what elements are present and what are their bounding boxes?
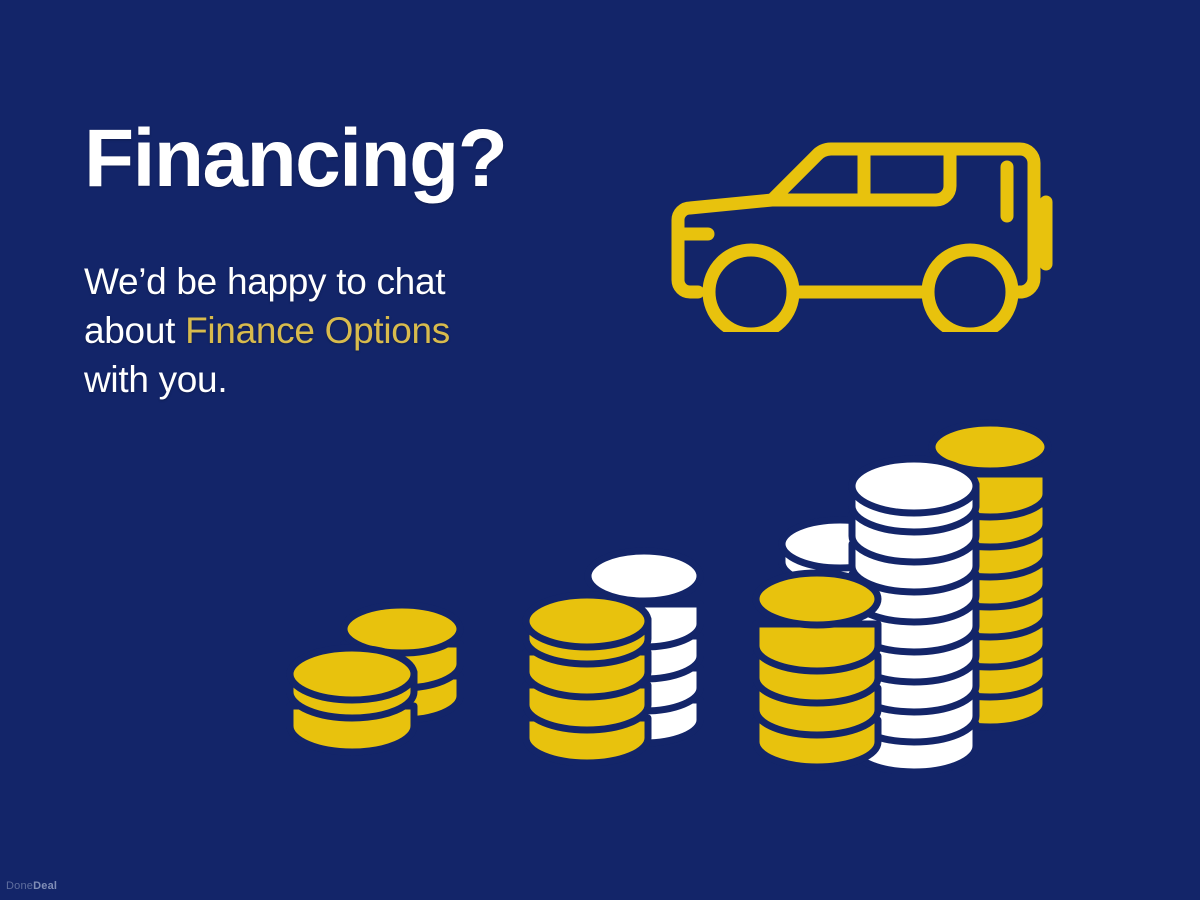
watermark-suffix: Deal: [33, 880, 57, 892]
subhead-line-1: We’d be happy to chat: [84, 261, 445, 302]
subhead: We’d be happy to chat about Finance Opti…: [84, 258, 514, 404]
subhead-highlight: Finance Options: [185, 310, 450, 351]
promo-slide: Financing? We’d be happy to chat about F…: [0, 0, 1200, 900]
coin-stack-medium-icon: [518, 530, 728, 766]
watermark-prefix: Done: [6, 880, 33, 892]
coin-stack-small-icon: [282, 596, 492, 766]
watermark-logo: DoneDeal: [6, 880, 57, 892]
subhead-line-3: with you.: [84, 359, 227, 400]
text-block: Financing? We’d be happy to chat about F…: [84, 118, 644, 404]
car-icon: [668, 132, 1068, 332]
subhead-line-2-prefix: about: [84, 310, 185, 351]
coin-stack-large-icon: [748, 414, 1068, 774]
page-title: Financing?: [84, 118, 644, 200]
